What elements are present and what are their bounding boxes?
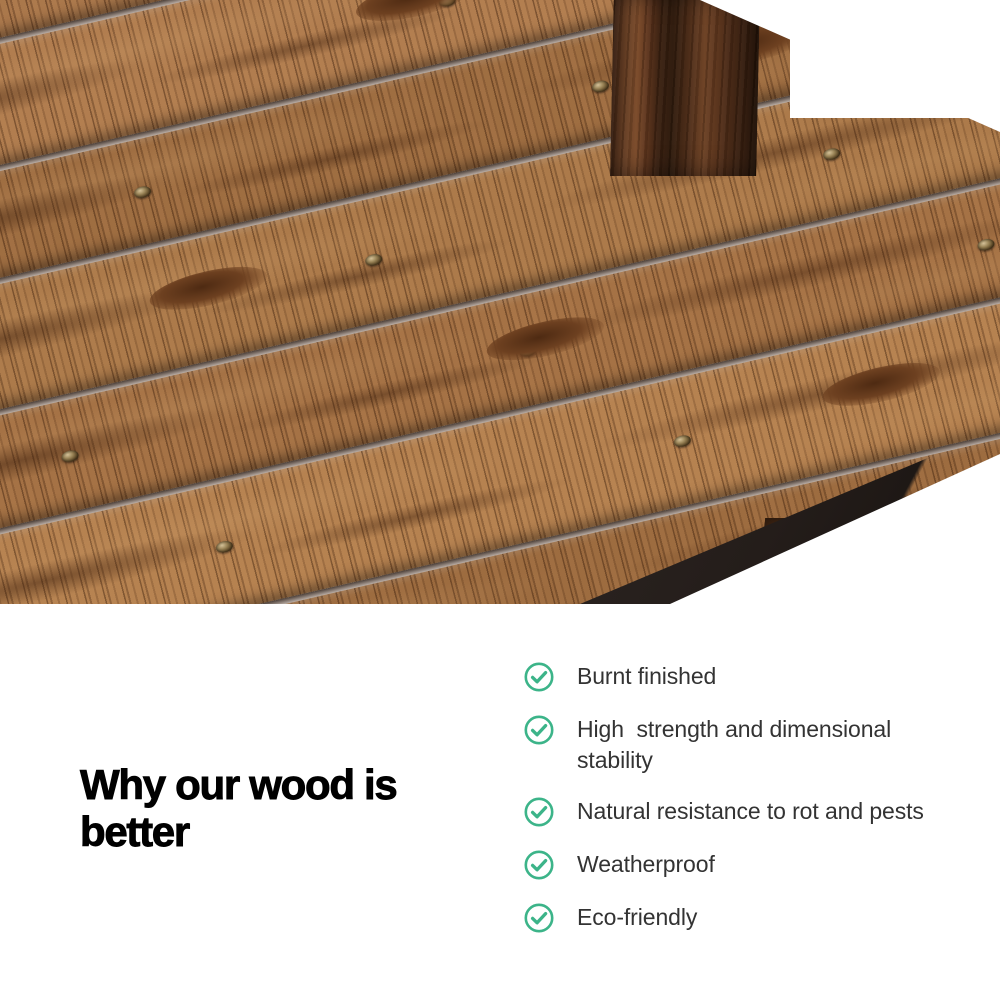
feature-item-3: Natural resistance to rot and pests: [523, 795, 963, 828]
circle-check-icon: [523, 902, 555, 934]
feature-label: Natural resistance to rot and pests: [577, 795, 924, 827]
circle-check-icon: [523, 849, 555, 881]
feature-label: Eco-friendly: [577, 901, 697, 933]
photo-cutout-top-right: [790, 0, 1000, 118]
feature-item-4: Weatherproof: [523, 848, 963, 881]
feature-item-1: Burnt finished: [523, 660, 963, 693]
circle-check-icon: [523, 796, 555, 828]
dark-wood-post: [610, 0, 760, 176]
feature-label: Weatherproof: [577, 848, 715, 880]
circle-check-icon: [523, 661, 555, 693]
circle-check-icon: [523, 714, 555, 746]
feature-item-5: Eco-friendly: [523, 901, 963, 934]
page-title: Why our wood is better: [80, 761, 480, 856]
features-content-panel: Why our wood is better Burnt finished Hi…: [0, 604, 1000, 1000]
feature-label: High strength and dimensional stability: [577, 713, 963, 775]
feature-label: Burnt finished: [577, 660, 716, 692]
feature-item-2: High strength and dimensional stability: [523, 713, 963, 775]
feature-list: Burnt finished High strength and dimensi…: [523, 660, 963, 934]
product-feature-panel: Why our wood is better Burnt finished Hi…: [0, 0, 1000, 1000]
wood-decking-photo: [0, 0, 1000, 604]
